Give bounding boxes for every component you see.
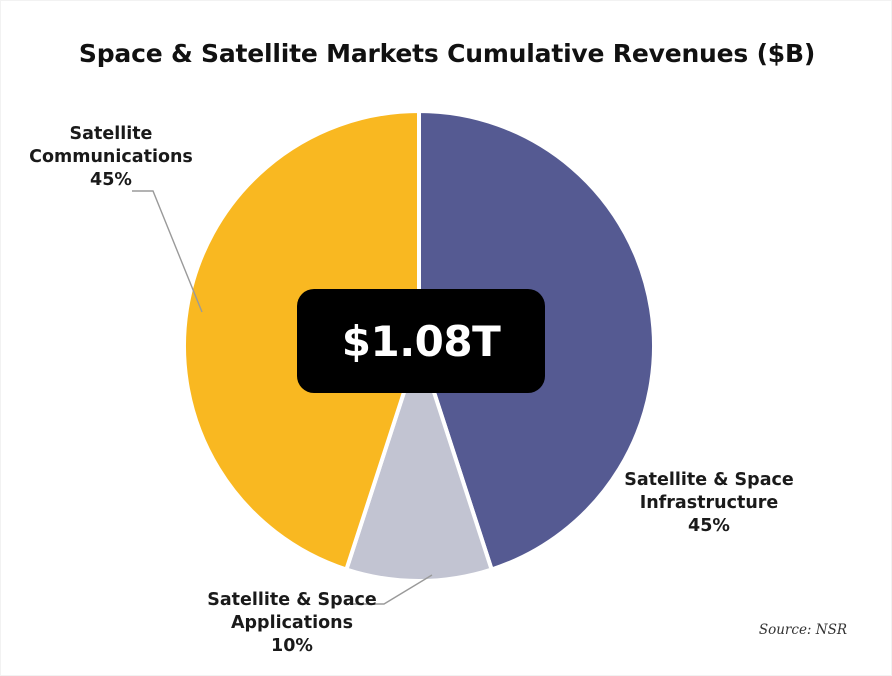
slice-label-applications: Satellite & Space Applications 10% [187,589,397,657]
slice-label-infrastructure-line2: Infrastructure [640,493,779,513]
slice-label-communications-line1: Satellite [70,124,153,144]
slice-label-applications-line2: Applications [231,613,353,633]
slice-percent-communications: 45% [15,169,207,192]
slice-percent-infrastructure: 45% [609,515,809,538]
slice-label-infrastructure-line1: Satellite & Space [624,470,794,490]
center-total-badge: $1.08T [297,289,545,393]
slice-label-communications: Satellite Communications 45% [15,123,207,191]
pie-chart-figure: Space & Satellite Markets Cumulative Rev… [0,0,892,676]
source-credit: Source: NSR [759,622,847,638]
slice-label-infrastructure: Satellite & Space Infrastructure 45% [609,469,809,537]
slice-label-communications-line2: Communications [29,147,193,167]
slice-label-applications-line1: Satellite & Space [207,590,377,610]
center-total-value: $1.08T [342,317,501,366]
slice-percent-applications: 10% [187,635,397,658]
